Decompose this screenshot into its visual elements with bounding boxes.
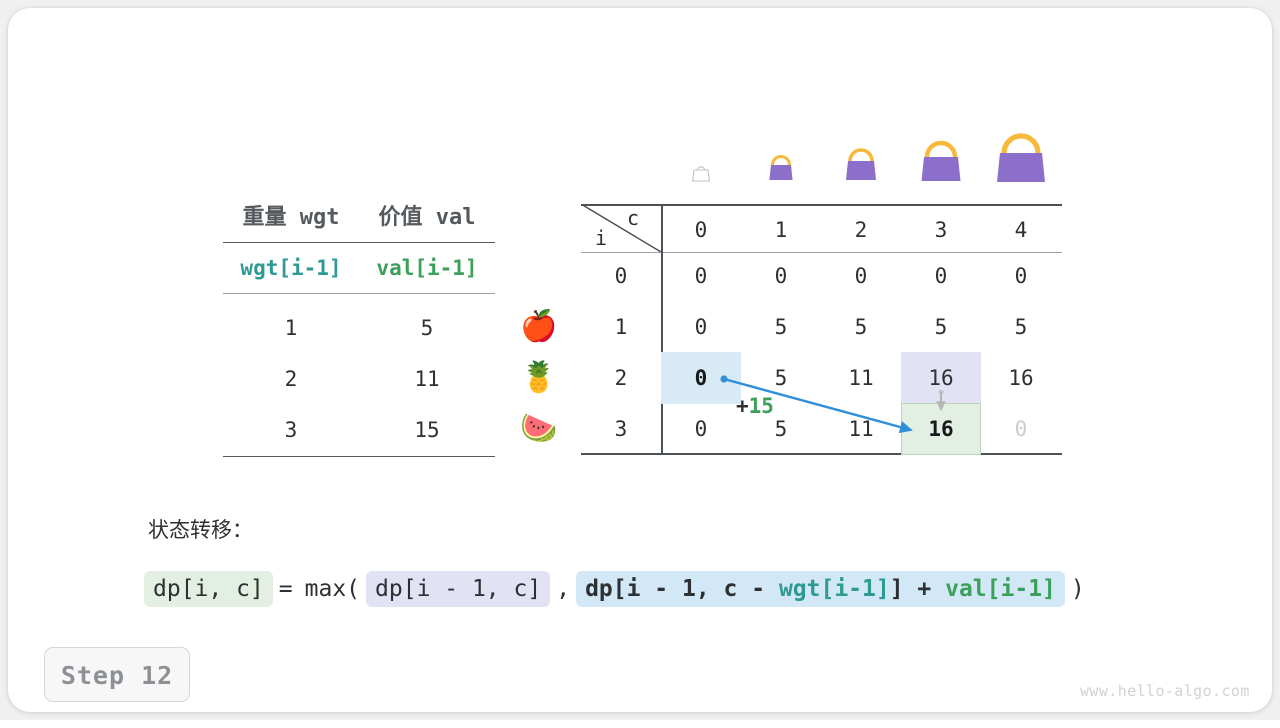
bag-icon-1 <box>741 154 821 185</box>
apple-icon: 🍎 <box>513 305 565 349</box>
bag-icon-4 <box>981 131 1061 187</box>
dp-row-header-3: 3 <box>581 409 661 449</box>
dp-rule-header <box>581 252 1062 253</box>
plus-value: 15 <box>749 394 774 418</box>
dp-cell-3-3: 16 <box>901 409 981 449</box>
plus-value-annotation: +15 <box>736 394 774 418</box>
dp-cell-2-3: 16 <box>901 358 981 398</box>
dp-cell-0-2: 0 <box>821 256 901 296</box>
dp-col-header-1: 1 <box>741 213 821 247</box>
item-table-header-value: 价值 val <box>359 198 495 238</box>
dp-cell-0-1: 0 <box>741 256 821 296</box>
bag-icon-2 <box>821 147 901 185</box>
dp-cell-0-0: 0 <box>661 256 741 296</box>
plus-sign: + <box>736 394 749 418</box>
screenshot-canvas: 重量 wgt 价值 val wgt[i-1] val[i-1] 1 5 2 11… <box>0 0 1280 720</box>
item-table-rule-mid <box>223 293 495 294</box>
item-table-header-weight: 重量 wgt <box>223 198 359 238</box>
formula-arg-take-wgt: wgt[i-1] <box>779 576 890 602</box>
dp-cell-2-4: 16 <box>981 358 1061 398</box>
formula-arg-take: dp[i - 1, c - wgt[i-1]] + val[i-1] <box>576 571 1065 607</box>
watermelon-icon: 🍉 <box>513 407 565 451</box>
bag-icon-3 <box>901 139 981 186</box>
dp-cell-3-0: 0 <box>661 409 741 449</box>
formula-equals: = <box>273 576 299 602</box>
watermark: www.hello-algo.com <box>1080 682 1250 700</box>
item-table-cell-wgt-3: 3 <box>223 410 359 450</box>
dp-cell-0-3: 0 <box>901 256 981 296</box>
dp-row-header-0: 0 <box>581 256 661 296</box>
pineapple-icon: 🍍 <box>513 356 565 400</box>
dp-cell-3-2: 11 <box>821 409 901 449</box>
dp-table: c i 0 1 2 3 4 0 1 2 3 0 0 0 0 0 0 5 5 5 … <box>581 204 1062 453</box>
formula-close: ) <box>1065 576 1091 602</box>
formula-arg-take-val: val[i-1] <box>945 576 1056 602</box>
dp-cell-2-0: 0 <box>661 358 741 398</box>
dp-col-header-0: 0 <box>661 213 741 247</box>
state-transition-label: 状态转移： <box>148 514 253 544</box>
item-table-cell-wgt-2: 2 <box>223 359 359 399</box>
dp-cell-1-4: 5 <box>981 307 1061 347</box>
item-table: 重量 wgt 价值 val wgt[i-1] val[i-1] 1 5 2 11… <box>223 198 495 458</box>
formula-comma: , <box>550 576 576 602</box>
formula-arg-skip: dp[i - 1, c] <box>366 571 550 607</box>
formula-arg-take-mid: ] + <box>890 576 945 602</box>
item-table-rule-bottom <box>223 456 495 457</box>
dp-cell-2-2: 11 <box>821 358 901 398</box>
item-table-cell-val-2: 11 <box>359 359 495 399</box>
dp-col-header-2: 2 <box>821 213 901 247</box>
formula-lhs: dp[i, c] <box>144 571 273 607</box>
item-table-cell-val-3: 15 <box>359 410 495 450</box>
item-table-rule-top <box>223 242 495 243</box>
dp-row-header-1: 1 <box>581 307 661 347</box>
dp-corner-diagonal <box>581 204 661 252</box>
dp-row-header-2: 2 <box>581 358 661 398</box>
item-table-cell-val-1: 5 <box>359 308 495 348</box>
dp-cell-1-3: 5 <box>901 307 981 347</box>
dp-cell-1-1: 5 <box>741 307 821 347</box>
dp-col-header-4: 4 <box>981 213 1061 247</box>
formula-max-open: max( <box>299 576 366 602</box>
dp-rule-top <box>581 204 1062 206</box>
state-transition-formula: dp[i, c] = max( dp[i - 1, c] , dp[i - 1,… <box>144 568 1091 610</box>
content-card: 重量 wgt 价值 val wgt[i-1] val[i-1] 1 5 2 11… <box>8 8 1272 712</box>
formula-arg-take-prefix: dp[i - 1, c - <box>585 576 779 602</box>
step-badge: Step 12 <box>44 647 190 702</box>
dp-axis-label-c: c <box>627 206 639 230</box>
dp-axis-label-i: i <box>595 226 607 250</box>
dp-rule-bottom <box>581 453 1062 455</box>
dp-cell-0-4: 0 <box>981 256 1061 296</box>
dp-col-header-3: 3 <box>901 213 981 247</box>
bag-icon-0 <box>661 163 741 186</box>
dp-cell-1-0: 0 <box>661 307 741 347</box>
dp-cell-3-4: 0 <box>981 409 1061 449</box>
item-table-subheader-val: val[i-1] <box>359 248 495 288</box>
item-table-subheader-wgt: wgt[i-1] <box>223 248 359 288</box>
dp-cell-1-2: 5 <box>821 307 901 347</box>
dp-cell-2-1: 5 <box>741 358 821 398</box>
item-table-cell-wgt-1: 1 <box>223 308 359 348</box>
